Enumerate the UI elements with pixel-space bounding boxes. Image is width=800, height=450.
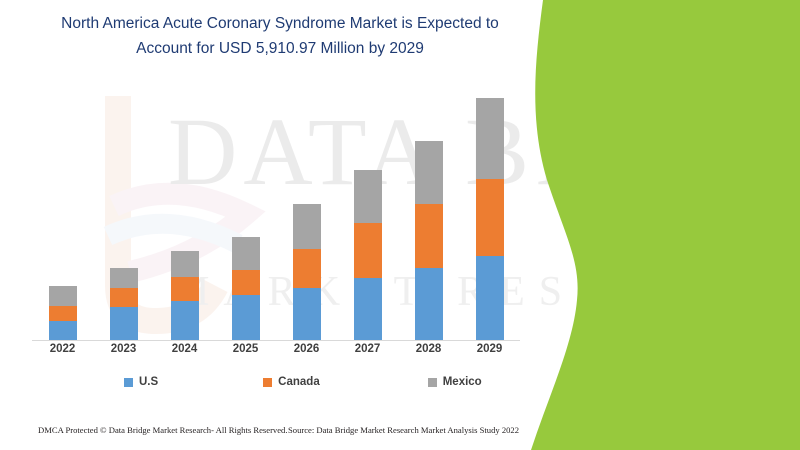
x-axis-tick-label: 2027 xyxy=(337,343,398,363)
green-panel-shape xyxy=(525,0,800,450)
legend-label-us: U.S xyxy=(139,376,158,388)
legend-swatch-canada-icon xyxy=(263,378,272,387)
bar-segment-us[interactable] xyxy=(49,321,77,340)
x-axis-line xyxy=(32,340,520,341)
stacked-bar-chart: 20222023202420252026202720282029 U.S Can… xyxy=(20,95,530,385)
bar-slot xyxy=(32,95,93,340)
stacked-bar[interactable] xyxy=(354,170,382,341)
bar-slot xyxy=(459,95,520,340)
legend-label-canada: Canada xyxy=(278,376,320,388)
x-axis-tick-label: 2026 xyxy=(276,343,337,363)
x-axis-tick-label: 2024 xyxy=(154,343,215,363)
bar-segment-canada[interactable] xyxy=(293,249,321,288)
bar-segment-mexico[interactable] xyxy=(293,204,321,249)
x-axis-tick-label: 2022 xyxy=(32,343,93,363)
footer-source: Source: Data Bridge Market Research Mark… xyxy=(288,425,519,435)
stacked-bar[interactable] xyxy=(476,98,504,340)
stacked-bar[interactable] xyxy=(171,251,199,340)
bar-segment-mexico[interactable] xyxy=(49,286,77,306)
legend-item-mexico[interactable]: Mexico xyxy=(428,376,482,388)
bar-segment-canada[interactable] xyxy=(415,204,443,268)
bar-slot xyxy=(154,95,215,340)
bar-segment-us[interactable] xyxy=(171,301,199,340)
bar-segment-mexico[interactable] xyxy=(354,170,382,224)
x-axis-tick-label: 2025 xyxy=(215,343,276,363)
bar-segment-mexico[interactable] xyxy=(232,237,260,270)
bar-segment-mexico[interactable] xyxy=(415,141,443,205)
bar-segment-mexico[interactable] xyxy=(476,98,504,178)
footer-copyright: DMCA Protected © Data Bridge Market Rese… xyxy=(38,425,288,435)
legend-label-mexico: Mexico xyxy=(443,376,482,388)
bar-segment-mexico[interactable] xyxy=(171,251,199,277)
legend-item-us[interactable]: U.S xyxy=(124,376,158,388)
bar-slot xyxy=(337,95,398,340)
green-side-panel: North America Acute Coronary Syndrome Ma… xyxy=(525,0,800,450)
legend-item-canada[interactable]: Canada xyxy=(263,376,320,388)
infographic-canvas: DATA BRIDGE MARKET RESEARCH North Americ… xyxy=(0,0,800,450)
bar-slot xyxy=(93,95,154,340)
bar-segment-canada[interactable] xyxy=(476,179,504,256)
footer: DMCA Protected © Data Bridge Market Rese… xyxy=(0,416,560,450)
bar-slot xyxy=(398,95,459,340)
bar-segment-canada[interactable] xyxy=(354,223,382,278)
stacked-bar[interactable] xyxy=(415,141,443,340)
stacked-bar[interactable] xyxy=(49,286,77,340)
x-axis-tick-label: 2029 xyxy=(459,343,520,363)
chart-plot-area: 20222023202420252026202720282029 xyxy=(20,95,530,363)
bar-segment-us[interactable] xyxy=(415,268,443,340)
bar-slot xyxy=(276,95,337,340)
x-axis-tick-label: 2028 xyxy=(398,343,459,363)
page-title: North America Acute Coronary Syndrome Ma… xyxy=(40,12,520,62)
legend-swatch-us-icon xyxy=(124,378,133,387)
bar-series-container xyxy=(32,95,520,340)
chart-legend: U.S Canada Mexico xyxy=(32,372,502,392)
bar-segment-canada[interactable] xyxy=(49,306,77,322)
x-axis-tick-label: 2023 xyxy=(93,343,154,363)
bar-segment-mexico[interactable] xyxy=(110,268,138,288)
bar-segment-canada[interactable] xyxy=(232,270,260,295)
bar-segment-us[interactable] xyxy=(354,278,382,340)
bar-segment-canada[interactable] xyxy=(171,277,199,301)
bar-segment-canada[interactable] xyxy=(110,288,138,308)
stacked-bar[interactable] xyxy=(232,237,260,340)
legend-swatch-mexico-icon xyxy=(428,378,437,387)
stacked-bar[interactable] xyxy=(293,204,321,340)
bar-slot xyxy=(215,95,276,340)
stacked-bar[interactable] xyxy=(110,268,138,340)
x-axis-labels: 20222023202420252026202720282029 xyxy=(32,343,520,363)
bar-segment-us[interactable] xyxy=(110,307,138,340)
bar-segment-us[interactable] xyxy=(232,295,260,340)
bar-segment-us[interactable] xyxy=(476,256,504,340)
bar-segment-us[interactable] xyxy=(293,288,321,340)
